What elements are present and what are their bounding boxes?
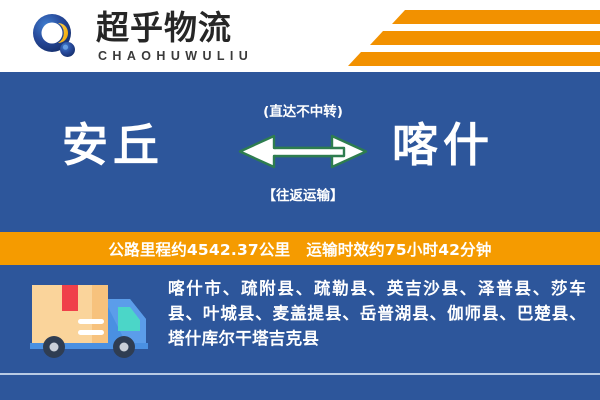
origin-city: 安丘 — [62, 118, 164, 172]
stripe-2 — [370, 31, 600, 45]
company-logo-icon — [30, 12, 80, 62]
delivery-truck-icon — [26, 279, 152, 361]
round-trip-note: 【往返运输】 — [230, 184, 376, 204]
stripe-3 — [348, 52, 600, 66]
bidirectional-arrow-icon — [232, 126, 374, 181]
route-arrow-group: (直达不中转) 【往返运输】 — [230, 100, 376, 208]
destination-city: 喀什 — [392, 118, 494, 172]
banner-header: 超乎物流 CHAOHUWULIU — [0, 0, 600, 72]
decorative-stripes — [340, 10, 600, 66]
direct-shipping-note: (直达不中转) — [230, 100, 376, 120]
banner-footer — [0, 375, 600, 400]
coverage-area-list: 喀什市、疏附县、疏勒县、英吉沙县、泽普县、莎车县、叶城县、麦盖提县、岳普湖县、伽… — [168, 276, 586, 351]
brand-name-en: CHAOHUWULIU — [98, 49, 253, 63]
route-section: 安丘 (直达不中转) 【往返运输】 喀什 — [0, 72, 600, 232]
logistics-route-banner: 超乎物流 CHAOHUWULIU 安丘 (直达不中转) 【往返 — [0, 0, 600, 400]
distance-duration-bar: 公路里程约4542.37公里 运输时效约75小时42分钟 — [0, 232, 600, 265]
stripe-1 — [392, 10, 600, 24]
coverage-section: 喀什市、疏附县、疏勒县、英吉沙县、泽普县、莎车县、叶城县、麦盖提县、岳普湖县、伽… — [0, 265, 600, 373]
road-distance-label: 公路里程约4542.37公里 — [108, 238, 290, 260]
brand-name-cn: 超乎物流 — [96, 9, 232, 47]
transit-duration-label: 运输时效约75小时42分钟 — [306, 238, 491, 260]
